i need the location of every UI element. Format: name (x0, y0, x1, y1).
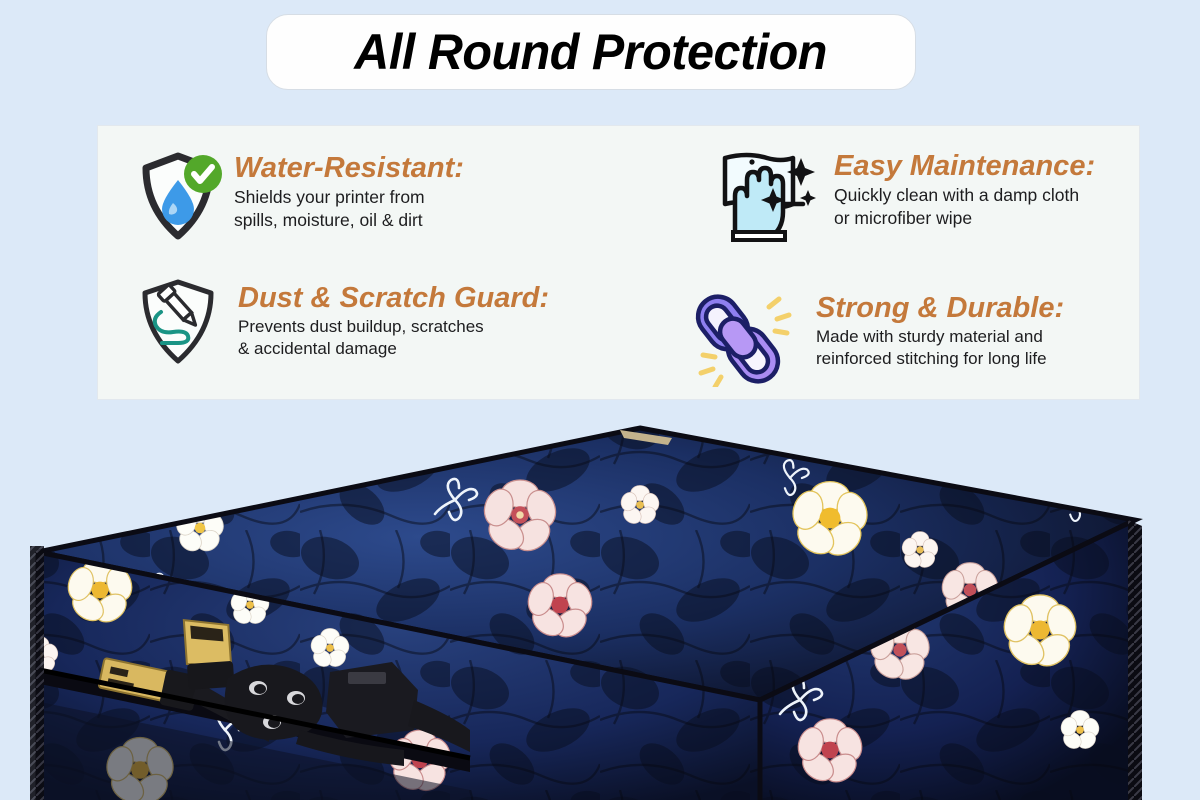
feature-body: Shields your printer from spills, moistu… (234, 186, 464, 231)
feature-heading: Easy Maintenance: (834, 150, 1095, 182)
features-panel: Water-Resistant: Shields your printer fr… (97, 125, 1140, 400)
feature-dust-scratch-guard: Dust & Scratch Guard: Prevents dust buil… (126, 268, 636, 374)
floral-printer-cover (0, 400, 1200, 800)
product-image-area (0, 400, 1200, 800)
shield-pen-scratch-icon (126, 270, 230, 374)
feature-text-block: Water-Resistant: Shields your printer fr… (234, 144, 464, 231)
feature-body: Prevents dust buildup, scratches & accid… (238, 316, 549, 360)
feature-text-block: Strong & Durable: Made with sturdy mater… (816, 286, 1064, 370)
feature-strong-durable: Strong & Durable: Made with sturdy mater… (688, 286, 1200, 386)
feature-heading: Water-Resistant: (234, 152, 464, 184)
feature-body: Quickly clean with a damp cloth or micro… (834, 184, 1095, 229)
feature-text-block: Dust & Scratch Guard: Prevents dust buil… (238, 268, 549, 360)
page-title: All Round Protection (355, 23, 828, 81)
feature-body: Made with sturdy material and reinforced… (816, 326, 1064, 370)
title-banner: All Round Protection (266, 14, 916, 90)
chain-link-sparkle-icon (688, 288, 800, 386)
feature-heading: Dust & Scratch Guard: (238, 282, 549, 314)
usb-b-cable-icon (184, 617, 235, 690)
feature-heading: Strong & Durable: (816, 292, 1064, 324)
feature-text-block: Easy Maintenance: Quickly clean with a d… (834, 136, 1095, 229)
title-pill: All Round Protection (266, 14, 916, 90)
features-grid: Water-Resistant: Shields your printer fr… (98, 126, 1139, 399)
hand-wiping-cloth-sparkle-icon (708, 140, 820, 244)
feature-easy-maintenance: Easy Maintenance: Quickly clean with a d… (708, 136, 1200, 244)
shield-water-drop-check-icon (126, 144, 230, 248)
feature-water-resistant: Water-Resistant: Shields your printer fr… (126, 144, 626, 248)
